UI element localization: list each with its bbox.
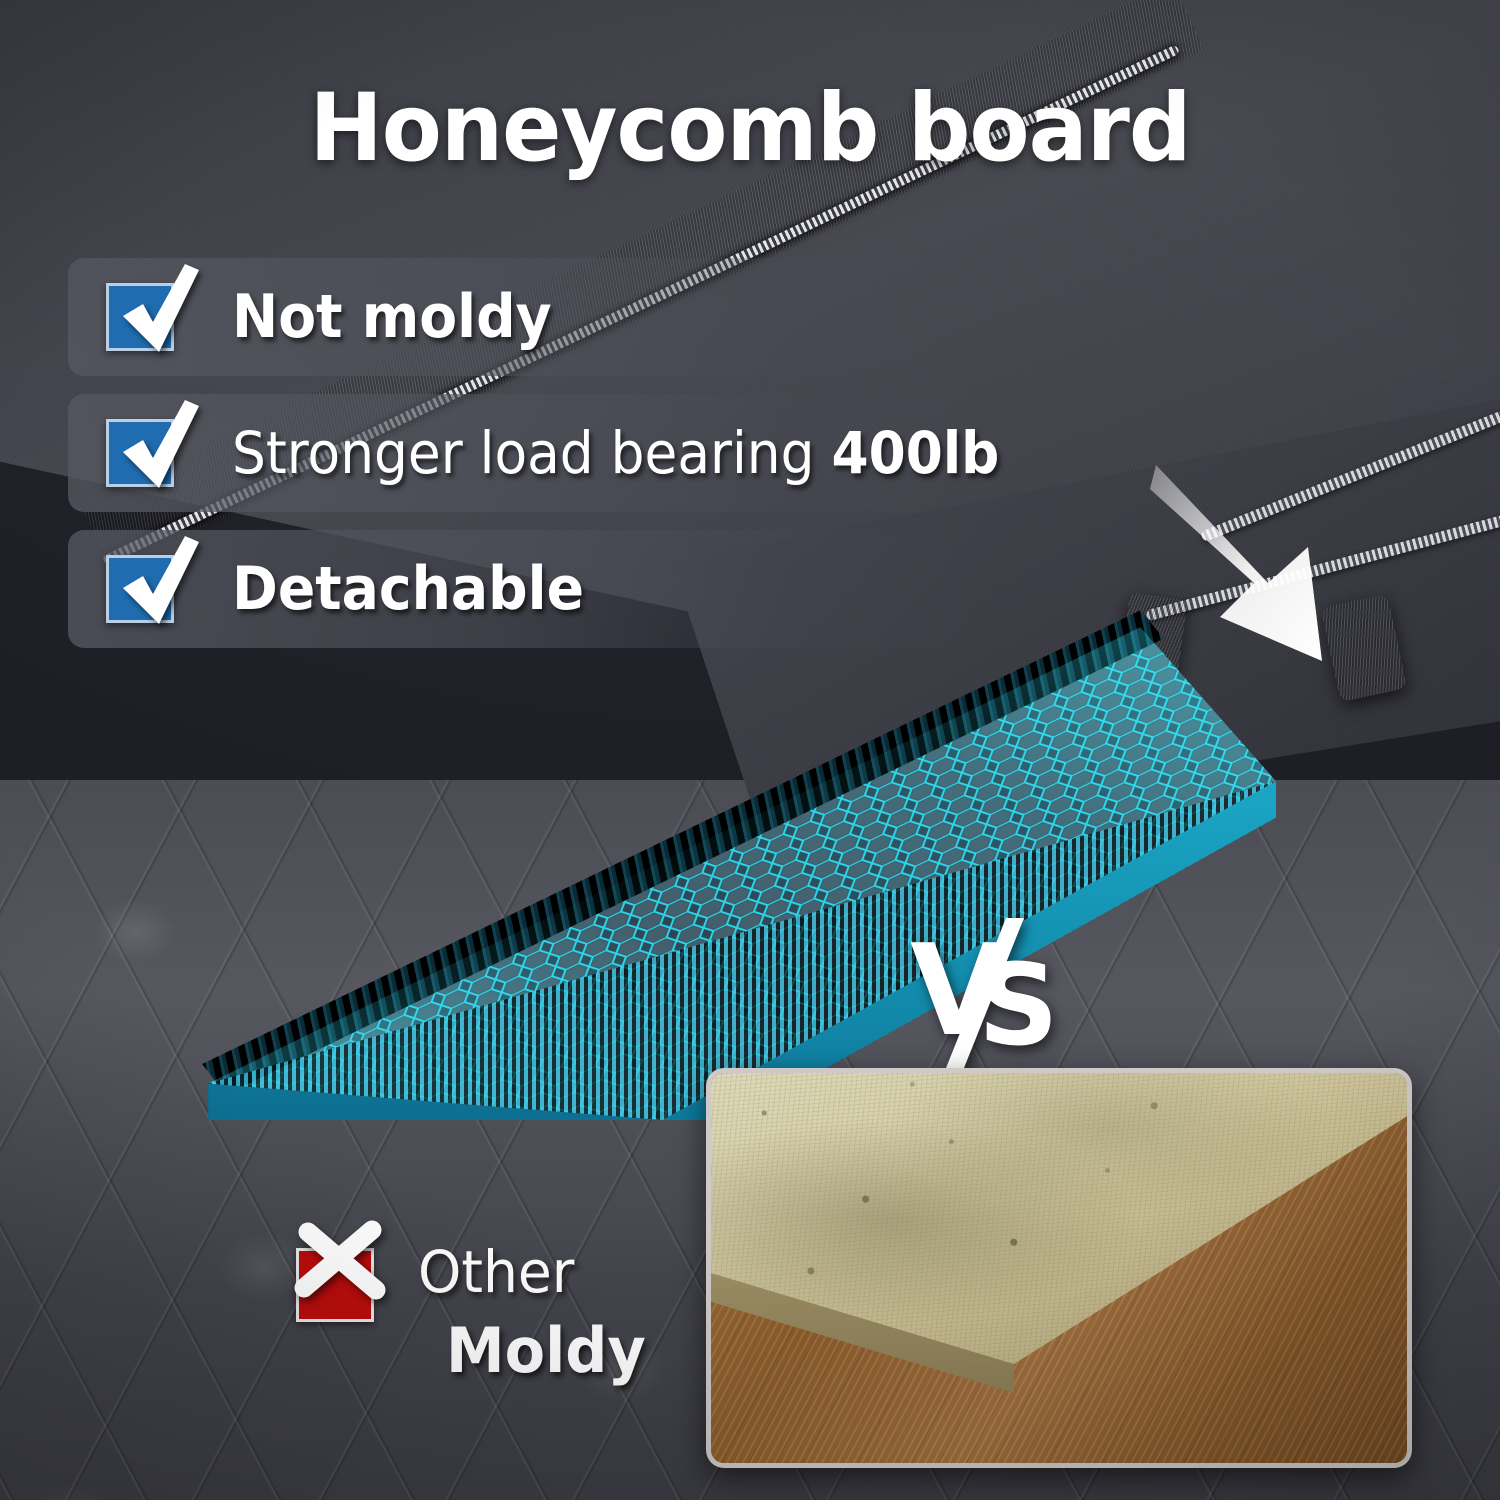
vignette-overlay [0,0,1500,1500]
product-feature-graphic: Honeycomb board Not moldy Stronger load … [0,0,1500,1500]
